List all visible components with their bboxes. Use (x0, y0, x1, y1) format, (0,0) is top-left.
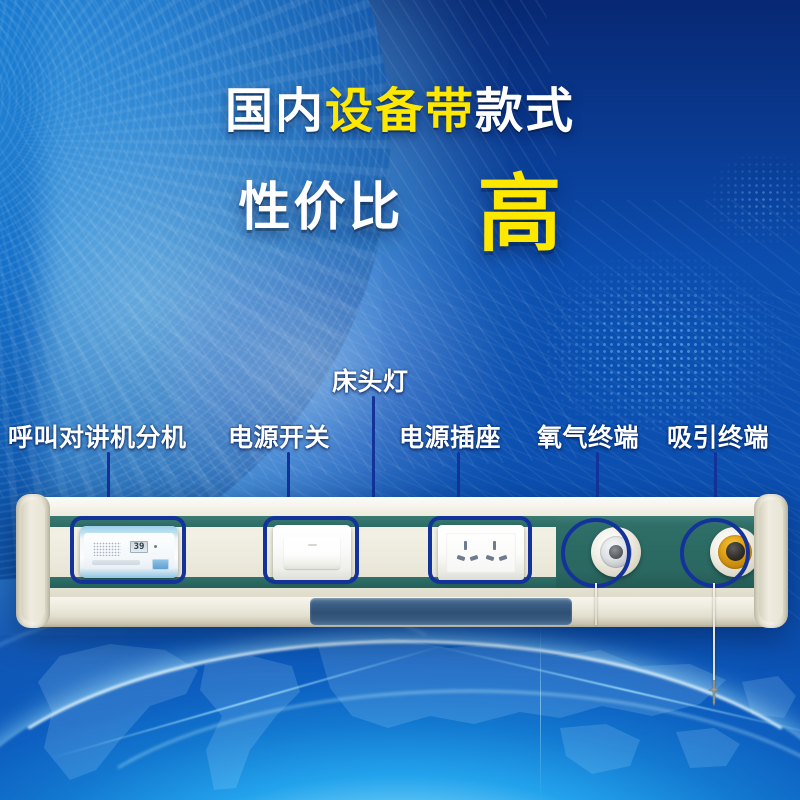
highlight-box-intercom (70, 516, 186, 584)
world-map-silhouette (0, 620, 800, 800)
callout-label-suction-outlet: 吸引终端 (667, 418, 769, 454)
callout-label-power-switch: 电源开关 (228, 418, 330, 454)
headline-part-1: 国内 (225, 85, 325, 138)
pull-cord-hook-icon (706, 680, 722, 706)
callout-label-intercom: 呼叫对讲机分机 (8, 418, 187, 454)
subheadline-emphasis: 高 (478, 167, 562, 261)
panel-end-cap-left-inner (21, 500, 45, 622)
headline: 国内设备带款式 (0, 88, 800, 136)
callout-label-bed-lamp: 床头灯 (332, 362, 409, 398)
call-pull-cord (713, 583, 715, 688)
subheadline: 性价比高 (0, 166, 800, 250)
highlight-ring-suction (680, 518, 750, 588)
vertical-light-line (540, 625, 541, 800)
promo-banner: 国内设备带款式 性价比高 呼叫对讲机分机 电源开关 床头灯 电源插座 氧气终端 … (0, 0, 800, 800)
panel-end-cap-right (754, 494, 788, 628)
callout-label-oxygen-outlet: 氧气终端 (537, 418, 639, 454)
headline-highlight: 设备带 (325, 85, 475, 138)
highlight-box-power-switch (263, 516, 359, 584)
panel-end-cap-right-inner (759, 500, 783, 622)
panel-end-cap-left (16, 494, 50, 628)
highlight-box-power-socket (428, 516, 532, 584)
headline-part-2: 款式 (475, 85, 575, 138)
panel-top-bevel (22, 497, 782, 513)
subheadline-text: 性价比 (238, 179, 403, 237)
oxygen-cord (595, 583, 597, 625)
callout-label-power-socket: 电源插座 (399, 418, 501, 454)
highlight-ring-oxygen (561, 518, 631, 588)
rail-slider-block[interactable] (310, 598, 572, 625)
